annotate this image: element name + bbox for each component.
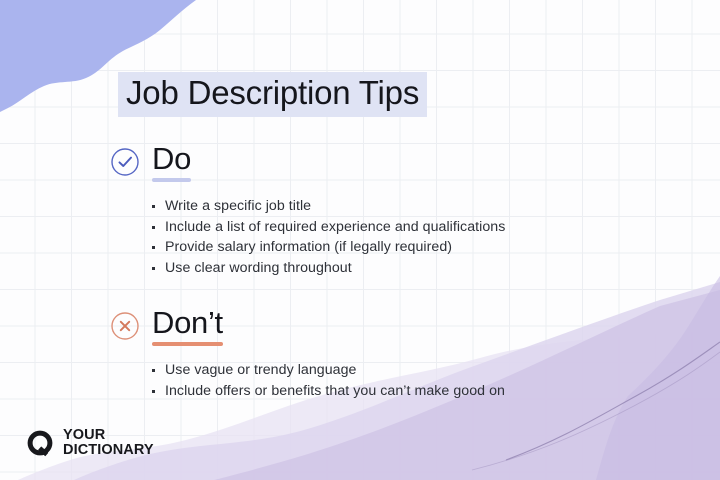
logo-wordmark: YOUR DICTIONARY	[63, 428, 154, 458]
list-item: Use vague or trendy language	[152, 360, 505, 381]
section-do-header: Do	[110, 142, 505, 182]
list-item: Write a specific job title	[152, 196, 505, 217]
section-do: Do Write a specific job title Include a …	[0, 142, 505, 278]
section-do-label-wrapper: Do	[152, 142, 191, 182]
section-dont-underline	[152, 342, 223, 346]
do-list: Write a specific job title Include a lis…	[152, 196, 505, 278]
infographic-canvas: Job Description Tips Do Write a specific…	[0, 0, 720, 480]
section-dont-header: Don’t	[110, 306, 505, 346]
check-circle-icon	[110, 147, 140, 177]
yourdictionary-logo: YOUR DICTIONARY	[26, 428, 154, 458]
logo-line-1: YOUR	[63, 428, 154, 443]
dont-list: Use vague or trendy language Include off…	[152, 360, 505, 401]
section-dont: Don’t Use vague or trendy language Inclu…	[0, 306, 505, 401]
x-circle-icon	[110, 311, 140, 341]
list-item: Include a list of required experience an…	[152, 217, 505, 238]
content-layer: Job Description Tips Do Write a specific…	[0, 0, 720, 480]
list-item: Use clear wording throughout	[152, 258, 505, 279]
logo-line-2: DICTIONARY	[63, 443, 154, 458]
yourdictionary-q-mark-icon	[26, 429, 54, 457]
section-do-label: Do	[152, 142, 191, 176]
page-title-wrapper: Job Description Tips	[118, 72, 427, 117]
list-item: Provide salary information (if legally r…	[152, 237, 505, 258]
section-dont-label-wrapper: Don’t	[152, 306, 223, 346]
page-title: Job Description Tips	[118, 72, 427, 117]
list-item: Include offers or benefits that you can’…	[152, 381, 505, 402]
section-dont-label: Don’t	[152, 306, 223, 340]
section-do-underline	[152, 178, 191, 182]
